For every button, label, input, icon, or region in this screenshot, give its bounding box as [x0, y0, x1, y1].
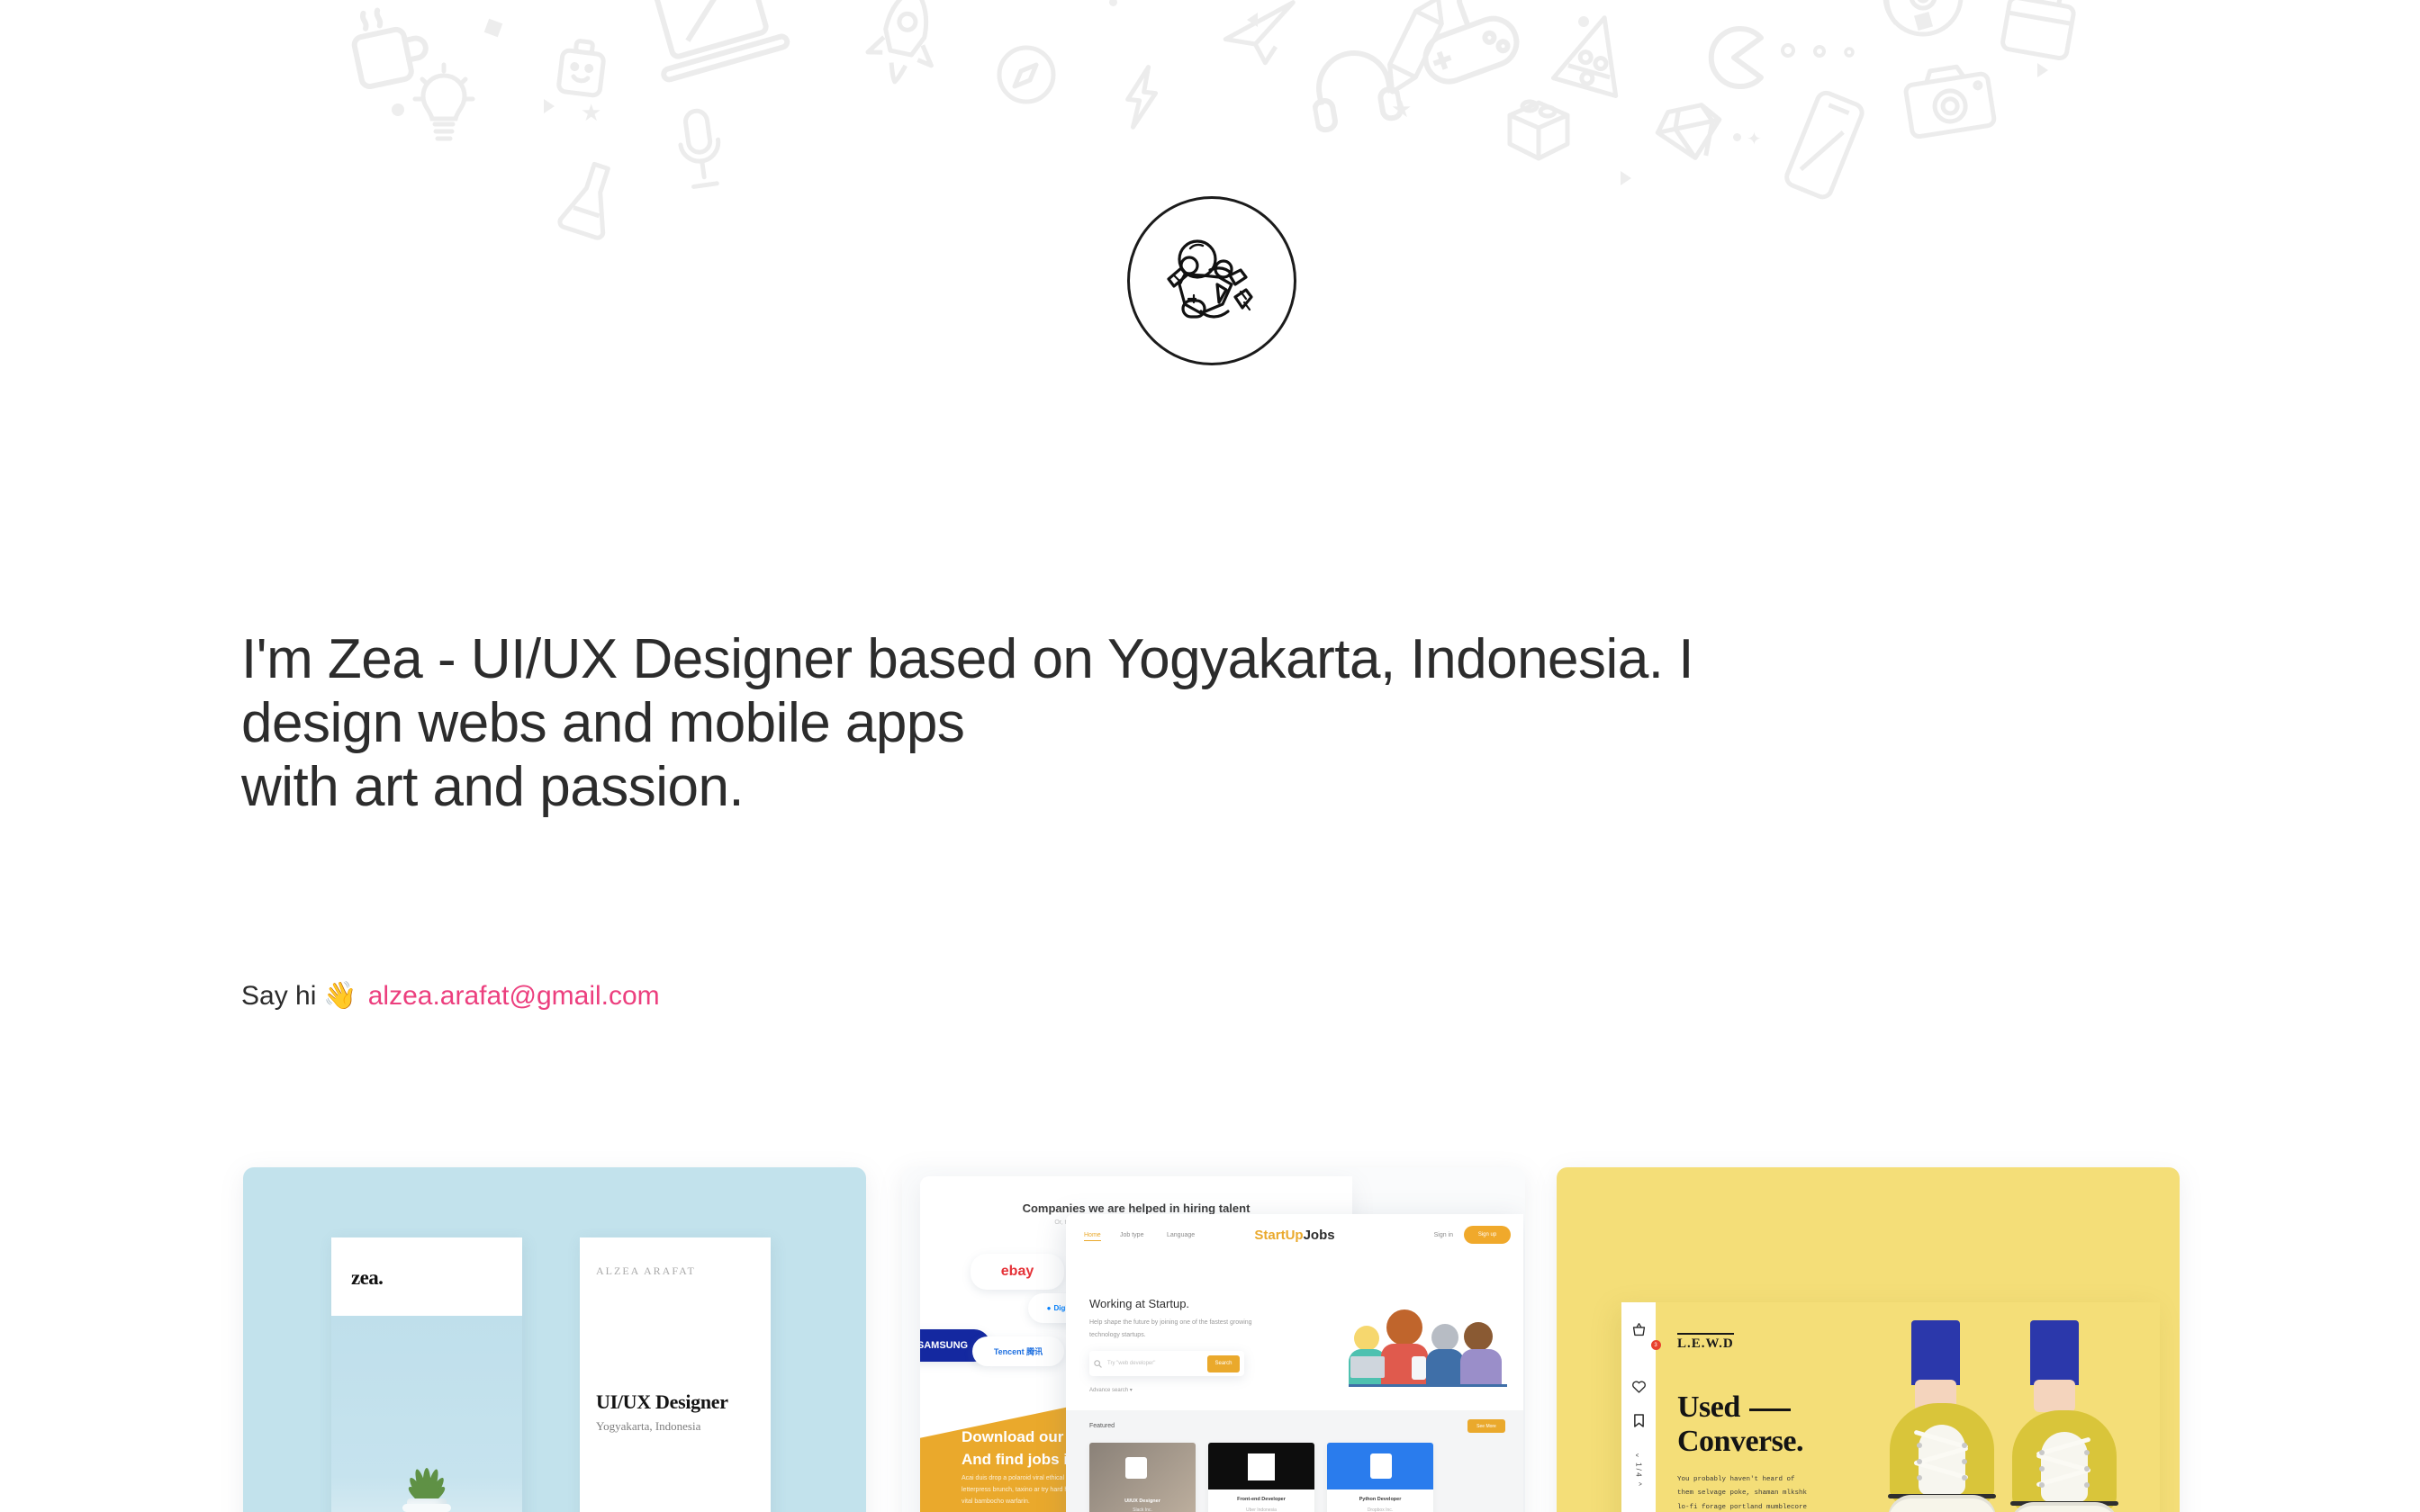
- nav-item-language[interactable]: Language: [1167, 1232, 1195, 1238]
- pacman-dot-icon: [1781, 43, 1795, 58]
- contact-line: Say hi 👋 alzea.arafat@gmail.com: [241, 980, 660, 1012]
- flask-icon: [552, 154, 629, 245]
- shop-side-rail: 3 ^ 1 / 4 ^: [1621, 1302, 1656, 1512]
- paper-plane-icon: [1215, 0, 1306, 74]
- card-role: UI/UX Designer: [596, 1390, 728, 1414]
- speck-triangle: [2037, 63, 2048, 77]
- featured-label: Featured: [1089, 1423, 1115, 1429]
- job-thumbnail: [1208, 1443, 1314, 1489]
- site-logo[interactable]: [1127, 196, 1296, 365]
- compass-icon: [995, 43, 1058, 106]
- headphones-icon: [1304, 40, 1404, 137]
- team-illustration: [1349, 1300, 1507, 1387]
- email-link[interactable]: alzea.arafat@gmail.com: [368, 980, 660, 1012]
- speck-square: [484, 19, 503, 38]
- job-card[interactable]: Front-end Developer Uber Indonesia Full-…: [1208, 1443, 1314, 1512]
- startupjobs-front-page: Home Job type Language StartUpJobs Sign …: [1066, 1214, 1523, 1512]
- company-chip-tencent: Tencent 腾讯: [972, 1336, 1064, 1366]
- startupjobs-navbar: Home Job type Language StartUpJobs Sign …: [1066, 1214, 1523, 1261]
- brand-logo-text: zea.: [351, 1266, 383, 1290]
- sign-up-button[interactable]: Sign up: [1464, 1226, 1511, 1244]
- pacman-dot-icon: [1813, 45, 1826, 58]
- startupjobs-hero-body: Help shape the future by joining one of …: [1089, 1317, 1269, 1341]
- card-location: Yogyakarta, Indonesia: [596, 1419, 700, 1434]
- astronaut-logo-icon: [1127, 196, 1296, 365]
- shop-brand-logo: L.E.W.D: [1677, 1333, 1734, 1352]
- folder-icon: [1992, 0, 2083, 71]
- gamepad-icon: [1400, 0, 1535, 100]
- job-card[interactable]: UI/UX Designer Slack Inc. Full-time | Po…: [1089, 1443, 1196, 1512]
- search-icon: [1094, 1360, 1102, 1368]
- portfolio-page: ★ ★ ✦: [0, 0, 2420, 1512]
- basket-icon[interactable]: 3: [1631, 1322, 1647, 1342]
- smartphone-icon: [1773, 82, 1874, 210]
- speck-square: [1914, 12, 1933, 31]
- sneakers-photo: [1879, 1320, 2149, 1512]
- speck-triangle: [544, 99, 555, 113]
- job-title: UI/UX Designer: [1089, 1498, 1196, 1504]
- project-card-branding[interactable]: zea. ALZEA ARAFAT UI/UX D: [243, 1167, 866, 1512]
- job-company: Uber Indonesia: [1208, 1507, 1314, 1512]
- landing-title: Companies we are helped in hiring talent: [920, 1201, 1352, 1215]
- speck-triangle: [1247, 13, 1258, 27]
- bookmark-icon[interactable]: [1633, 1413, 1645, 1433]
- rocket-icon: [857, 0, 953, 93]
- company-chip-ebay: ebay: [971, 1254, 1064, 1290]
- search-button[interactable]: Search: [1207, 1355, 1240, 1372]
- lightning-icon: [1117, 61, 1166, 133]
- star-icon: ★: [581, 101, 601, 124]
- camera-icon: [1897, 54, 2001, 145]
- startupjobs-logo: StartUpJobs: [1254, 1228, 1334, 1243]
- heart-icon[interactable]: [1631, 1380, 1647, 1399]
- speck-dot: [1109, 0, 1117, 6]
- sign-in-link[interactable]: Sign in: [1434, 1232, 1453, 1238]
- headline-line-3: with art and passion.: [241, 758, 2042, 816]
- pizza-icon: [1545, 4, 1641, 107]
- pacman-dot-icon: [1844, 47, 1855, 58]
- lego-head-icon: [550, 34, 613, 103]
- diamond-icon: [1648, 91, 1732, 175]
- project-card-startupjobs[interactable]: Companies we are helped in hiring talent…: [902, 1167, 1525, 1512]
- lightbulb-icon: [410, 61, 478, 148]
- product-description: You probably haven't heard of them selva…: [1677, 1473, 1810, 1512]
- speck-dot: [1733, 133, 1741, 141]
- star-icon: ✦: [1747, 130, 1762, 148]
- job-company: Slack Inc.: [1089, 1507, 1196, 1512]
- job-search-bar[interactable]: Try "web developer" Search: [1089, 1351, 1244, 1376]
- project-card-lewd-shop[interactable]: 3 ^ 1 / 4 ^: [1557, 1167, 2180, 1512]
- business-card-back: ALZEA ARAFAT UI/UX Designer Yogyakarta, …: [580, 1237, 771, 1512]
- nav-item-home[interactable]: Home: [1084, 1232, 1101, 1241]
- lego-brick-icon: [1497, 81, 1580, 164]
- pencil-icon: [1371, 0, 1459, 104]
- headline-line-1: I'm Zea - UI/UX Designer based on Yogyak…: [241, 630, 2042, 688]
- page-title: I'm Zea - UI/UX Designer based on Yogyak…: [241, 630, 2042, 816]
- speck-triangle: [1621, 171, 1631, 185]
- card-name: ALZEA ARAFAT: [596, 1264, 696, 1278]
- job-title: Python Developer: [1327, 1497, 1433, 1502]
- star-icon: ★: [1391, 97, 1412, 121]
- cart-badge: 3: [1651, 1340, 1661, 1350]
- shop-page: 3 ^ 1 / 4 ^: [1621, 1302, 2160, 1512]
- advance-search-toggle[interactable]: Advance search ▾: [1089, 1387, 1133, 1393]
- microphone-icon: [665, 103, 736, 198]
- waving-hand-icon: 👋: [323, 980, 357, 1012]
- pacman-icon: [1702, 25, 1766, 90]
- slide-pager[interactable]: ^ 1 / 4 ^: [1621, 1432, 1656, 1507]
- job-card[interactable]: Python Developer Dropbox Inc. Remote | N…: [1327, 1443, 1433, 1512]
- job-company: Dropbox Inc.: [1327, 1507, 1433, 1512]
- see-more-button[interactable]: See More: [1467, 1419, 1505, 1433]
- cd-icon: [1880, 0, 1966, 40]
- laptop-icon: [635, 0, 797, 99]
- job-title: Front-end Developer: [1208, 1497, 1314, 1502]
- featured-jobs-section: Featured See More UI/UX Designer Slack I…: [1066, 1410, 1523, 1512]
- job-thumbnail: [1327, 1443, 1433, 1489]
- search-input[interactable]: Try "web developer": [1102, 1361, 1207, 1366]
- product-heading: Used Converse.: [1677, 1390, 1803, 1459]
- card-photo: [331, 1316, 522, 1512]
- speck-dot: [1578, 16, 1589, 27]
- nav-item-job-type[interactable]: Job type: [1120, 1232, 1143, 1238]
- coffee-mug-icon: [339, 0, 438, 99]
- project-card-row: zea. ALZEA ARAFAT UI/UX D: [0, 1167, 2420, 1512]
- contact-prefix: Say hi: [241, 980, 316, 1012]
- headline-line-2: design webs and mobile apps: [241, 694, 2042, 752]
- startupjobs-hero-title: Working at Startup.: [1089, 1297, 1189, 1310]
- speck-dot: [392, 103, 404, 116]
- plant-illustration: [397, 1457, 456, 1512]
- business-card-front: zea.: [331, 1237, 522, 1512]
